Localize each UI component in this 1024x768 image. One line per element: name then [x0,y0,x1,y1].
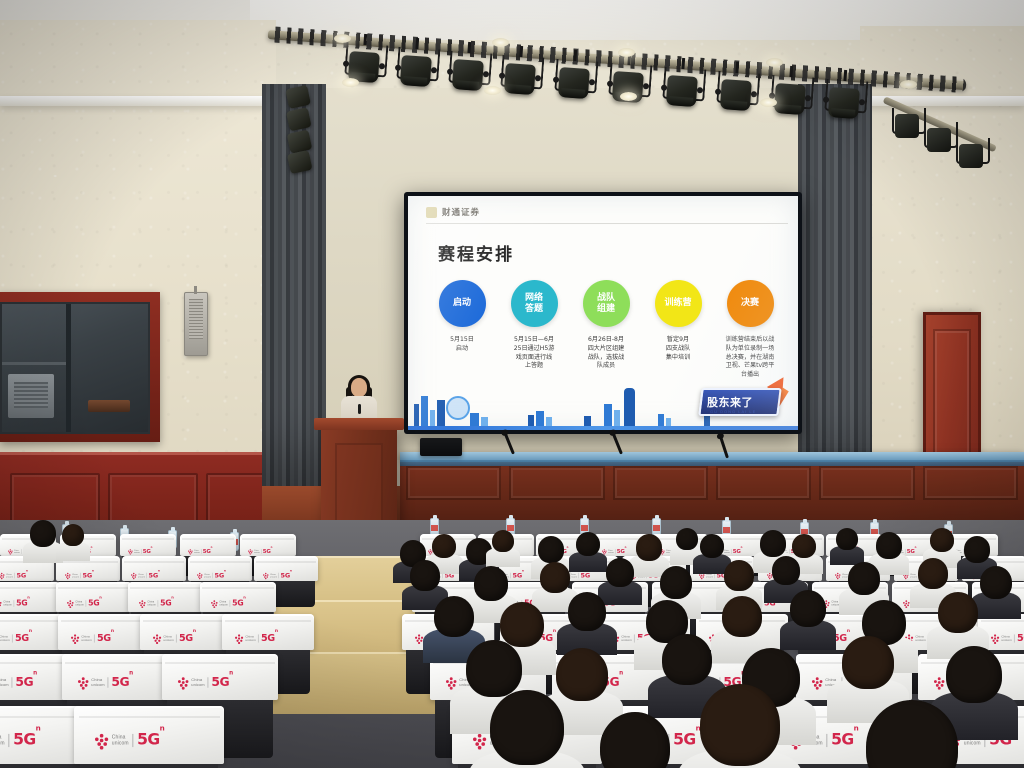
audience-head [848,562,880,595]
laptop[interactable] [420,438,462,456]
unicom-company-name: Chinaunicom [14,550,20,554]
unicom-mark-icon [835,572,841,578]
step-description: 6月26日-8月四大片区组建战队，选拔战队成员 [575,336,637,371]
unicom-5g-logo: Chinaunicom 5Gn [78,676,133,690]
unicom-company-name: Chinaunicom [6,573,13,578]
audience-head [606,558,634,587]
schedule-step: 决赛 训练营结束后以战队为单位录制一场总决赛，并在湖南卫视、芒果tv跨平台播出 [718,280,782,380]
stage-curtain-right [798,84,872,488]
unicom-company-name: Chinaunicom [621,634,631,641]
five-g-label: 5Gn [16,676,37,690]
five-g-label: 5Gn [232,599,246,608]
unicom-mark-icon [8,549,13,554]
audience-head [62,524,84,546]
unicom-mark-icon [131,572,137,578]
ceiling-downlight [342,78,359,87]
unicom-mark-icon [248,549,253,554]
unicom-company-name: Chinaunicom [147,600,155,606]
audience-head [636,534,662,561]
unicom-5g-logo: Chinaunicom 5Gn [263,571,292,579]
five-g-label: 5Gn [203,548,212,554]
audience-member [540,562,570,607]
unicom-company-name: Chinaunicom [75,600,83,606]
seat-cover: Chinaunicom 5Gn [188,556,252,581]
unicom-5g-logo: Chinaunicom 5Gn [67,599,102,608]
brand-name: 财通证券 [442,206,480,218]
schedule-step: 启动 5月15日启动 [430,280,494,380]
ceiling-downlight [760,98,777,107]
audience-head [866,700,958,768]
five-g-label: 5Gn [215,571,226,579]
unicom-company-name: Chinaunicom [204,573,211,578]
unicom-5g-logo: Chinaunicom 5Gn [139,599,174,608]
unicom-company-name: Chinaunicom [0,634,10,641]
five-g-label: 5Gn [907,548,916,554]
schedule-step: 训练营 暂定9月四支战队集中培训 [646,280,710,380]
window-glass [0,302,150,434]
five-g-label: 5Gn [733,548,742,554]
audience-member [980,566,1012,614]
audience-head [842,636,894,689]
audience-head [466,640,522,697]
unicom-company-name: Chinaunicom [0,678,9,687]
auditorium-seat[interactable]: Chinaunicom 5Gn [74,706,224,768]
seat-back [80,764,218,768]
stage-spotlight [768,73,811,122]
step-bubble: 战队组建 [583,280,630,327]
projection-screen: 财通证券 赛程安排 启动 5月15日启动 网络答题 5月15日—6月25日通过H… [404,192,802,434]
unicom-company-name: Chinaunicom [915,634,925,641]
audience-head [722,596,762,637]
unicom-mark-icon [139,600,146,607]
stage-spotlight [552,57,595,106]
unicom-mark-icon [934,677,944,687]
five-g-label: 5Gn [88,599,102,608]
ceiling-downlight [618,48,635,57]
five-g-label: 5Gn [13,731,40,749]
audience-head [474,566,508,601]
step-description: 训练营结束后以战队为单位录制一场总决赛，并在湖南卫视、芒果tv跨平台播出 [719,336,781,380]
seat-cover: Chinaunicom 5Gn [222,614,314,650]
unicom-mark-icon [71,634,79,642]
seat-cover: Chinaunicom 5Gn [128,582,204,612]
unicom-company-name: Chinaunicom [608,550,614,554]
seat-cover: Chinaunicom 5Gn [62,654,178,700]
audience-head [600,712,670,768]
unicom-mark-icon [95,734,108,747]
audience-head [792,534,816,558]
five-g-label: 5Gn [179,632,196,643]
audience-member [700,684,780,768]
audience-head [576,532,600,556]
audience-head [790,590,826,627]
audience-member [636,534,662,573]
audience-head [410,560,440,591]
unicom-company-name: Chinaunicom [245,634,255,641]
audience-head [432,534,456,558]
unicom-5g-logo: Chinaunicom 5Gn [991,632,1024,643]
window-interior-object [88,400,130,412]
slide-surface: 财通证券 赛程安排 启动 5月15日启动 网络答题 5月15日—6月25日通过H… [408,196,798,430]
program-name: 股东来了 [707,394,753,410]
side-light-rig-right [884,70,1004,190]
presenter-head [351,378,367,397]
unicom-company-name: Chinaunicom [910,573,917,578]
audience-head [918,558,948,589]
audience-head [930,528,954,552]
unicom-company-name: Chinaunicom [192,678,205,687]
unicom-mark-icon [812,677,822,687]
five-g-label: 5Gn [97,632,114,643]
audience-member [576,532,600,568]
five-g-label: 5Gn [617,548,626,554]
unicom-mark-icon [65,572,71,578]
slide-title: 赛程安排 [438,240,514,265]
audience-head [538,536,564,563]
seat-cover: Chinaunicom 5Gn [0,582,60,612]
unicom-company-name: Chinaunicom [134,550,140,554]
unicom-5g-logo: Chinaunicom 5Gn [0,571,28,579]
audience-head [434,596,474,637]
five-g-label: 5Gn [112,676,133,690]
unicom-company-name: Chinaunicom [194,550,200,554]
unicom-mark-icon [0,572,4,578]
unicom-company-name: Chinaunicom [163,634,173,641]
seat-cover: Chinaunicom 5Gn [162,654,278,700]
five-g-label: 5Gn [831,731,858,749]
five-g-label: 5Gn [160,599,174,608]
unicom-5g-logo: Chinaunicom 5Gn [178,676,233,690]
seat-cover: Chinaunicom 5Gn [74,706,224,764]
unicom-5g-logo: Chinaunicom 5Gn [0,632,32,643]
five-g-label: 5Gn [263,548,272,554]
step-description: 暂定9月四支战队集中培训 [647,336,709,362]
seat-cover: Chinaunicom 5Gn [240,534,296,556]
audience-head [760,530,786,557]
unicom-company-name: Chinaunicom [3,600,11,606]
unicom-mark-icon [197,572,203,578]
unicom-5g-logo: Chinaunicom 5Gn [131,571,160,579]
audience-member [722,596,762,656]
audience-head [30,520,56,547]
unicom-mark-icon [78,677,88,687]
stage-spotlight [660,65,703,114]
unicom-mark-icon [473,734,486,747]
audience-member [600,712,670,768]
unicom-company-name: Chinaunicom [138,573,145,578]
unicom-5g-logo: Chinaunicom 5Gn [0,676,37,690]
ceiling-downlight [766,58,783,67]
five-g-label: 5Gn [212,676,233,690]
audience-head [700,684,780,766]
unicom-5g-logo: Chinaunicom 5Gn [248,548,272,554]
head-table [400,456,1024,528]
unicom-5g-logo: Chinaunicom 5Gn [211,599,246,608]
unicom-mark-icon [153,634,161,642]
unicom-company-name: Chinaunicom [724,550,730,554]
five-g-label: 5Gn [513,571,524,579]
step-description: 5月15日启动 [431,336,493,354]
seat-cover: Chinaunicom 5Gn [122,556,186,581]
ceiling-downlight [620,92,637,101]
audience-head [660,566,692,599]
seat-cover: Chinaunicom 5Gn [200,582,276,612]
seat-cover: Chinaunicom 5Gn [58,614,150,650]
unicom-5g-logo: Chinaunicom 5Gn [235,632,278,643]
program-pinyin: GU DONG LAI LE [710,409,756,414]
seat-cover: Chinaunicom 5Gn [180,534,236,556]
unicom-company-name: Chinaunicom [72,573,79,578]
unicom-company-name: Chinaunicom [112,734,129,746]
step-bubble: 网络答题 [511,280,558,327]
schedule-step: 网络答题 5月15日—6月25日通过H5游戏页面进行线上答题 [502,280,566,380]
podium-microphone [358,404,361,414]
audience-head [938,592,978,633]
unicom-company-name: Chinaunicom [254,550,260,554]
head-table-skirt [400,460,1024,466]
five-g-label: 5Gn [281,571,292,579]
audience-member [700,534,724,570]
five-g-label: 5Gn [143,548,152,554]
audience-head [964,536,990,563]
unicom-mark-icon [991,634,999,642]
audience-head [676,528,698,550]
audience-member [62,524,84,557]
audience-member [30,520,56,559]
slide-divider [426,223,788,224]
unicom-mark-icon [188,549,193,554]
audience-member [568,592,606,649]
unicom-mark-icon [0,600,1,607]
unicom-company-name: Chinaunicom [92,678,105,687]
seat-cover: Chinaunicom 5Gn [56,582,132,612]
audience-member [836,528,858,561]
air-conditioner-unit [8,374,54,418]
ceiling-downlight [900,80,917,89]
five-g-label: 5Gn [673,731,700,749]
five-g-label: 5Gn [137,731,164,749]
left-window [0,292,160,442]
audience-member [790,590,826,644]
ceiling-downlight [492,38,509,47]
brand-mark-icon [426,207,437,218]
audience-head [836,528,858,550]
seat-cover: Chinaunicom 5Gn [120,534,176,556]
audience-member [490,690,564,768]
stage-spotlight [714,69,757,118]
step-description: 5月15日—6月25日通过H5游戏页面进行线上答题 [503,336,565,371]
five-g-label: 5Gn [17,571,28,579]
five-g-label: 5Gn [261,632,278,643]
audience-head [946,646,1002,703]
slide-brand-logo: 财通证券 [426,206,480,218]
unicom-5g-logo: Chinaunicom 5Gn [602,548,626,554]
seat-cover: Chinaunicom 5Gn [140,614,232,650]
audience-member [938,592,978,652]
unicom-company-name: Chinaunicom [81,634,91,641]
five-g-label: 5Gn [83,571,94,579]
five-g-label: 5Gn [581,571,592,579]
schedule-steps: 启动 5月15日启动 网络答题 5月15日—6月25日通过H5游戏页面进行线上答… [430,280,782,380]
unicom-mark-icon [128,549,133,554]
audience-head [568,592,606,631]
audience-head [980,566,1012,599]
audience-member [606,558,634,600]
unicom-mark-icon [415,634,423,642]
audience-head [876,532,902,559]
audience-head [724,560,754,591]
unicom-5g-logo: Chinaunicom 5Gn [153,632,196,643]
unicom-mark-icon [263,572,269,578]
audience-head [772,556,800,585]
unicom-mark-icon [211,600,218,607]
unicom-5g-logo: Chinaunicom 5Gn [128,548,152,554]
unicom-mark-icon [67,600,74,607]
five-g-label: 5Gn [1017,632,1024,643]
seat-cover: Chinaunicom 5Gn [254,556,318,581]
audience-head [490,690,564,765]
five-g-label: 5Gn [16,599,30,608]
ceiling-downlight [334,34,351,43]
step-bubble: 启动 [439,280,486,327]
unicom-mark-icon [235,634,243,642]
unicom-company-name: Chinaunicom [270,573,277,578]
step-bubble: 决赛 [727,280,774,327]
unicom-5g-logo: Chinaunicom 5Gn [0,731,40,749]
audience-member [492,530,514,563]
unicom-5g-logo: Chinaunicom 5Gn [197,571,226,579]
schedule-step: 战队组建 6月26日-8月四大片区组建战队，选拔战队成员 [574,280,638,380]
audience-head [662,634,712,685]
audience-member [866,700,958,768]
unicom-5g-logo: Chinaunicom 5Gn [0,599,29,608]
unicom-5g-logo: Chinaunicom 5Gn [71,632,114,643]
ceiling-downlight [484,86,501,95]
unicom-mark-icon [446,677,456,687]
stage-spotlight [822,77,865,126]
stage-spotlight [606,61,649,110]
unicom-company-name: Chinaunicom [1001,634,1011,641]
unicom-5g-logo: Chinaunicom 5Gn [95,731,164,749]
five-g-label: 5Gn [15,632,32,643]
audience-head [700,534,724,558]
audience-head [492,530,514,552]
stage-spotlight [394,45,437,94]
unicom-5g-logo: Chinaunicom 5Gn [188,548,212,554]
unicom-company-name: Chinaunicom [0,734,5,746]
program-logo: 股东来了 GU DONG LAI LE [696,376,792,422]
unicom-5g-logo: Chinaunicom 5Gn [65,571,94,579]
unicom-mark-icon [178,677,188,687]
conference-hall-photo: 财通证券 赛程安排 启动 5月15日启动 网络答题 5月15日—6月25日通过H… [0,0,1024,768]
step-bubble: 训练营 [655,280,702,327]
audience-head [540,562,570,593]
five-g-label: 5Gn [149,571,160,579]
unicom-company-name: Chinaunicom [219,600,227,606]
wall-speaker [184,292,208,356]
stage-spotlight [498,53,541,102]
